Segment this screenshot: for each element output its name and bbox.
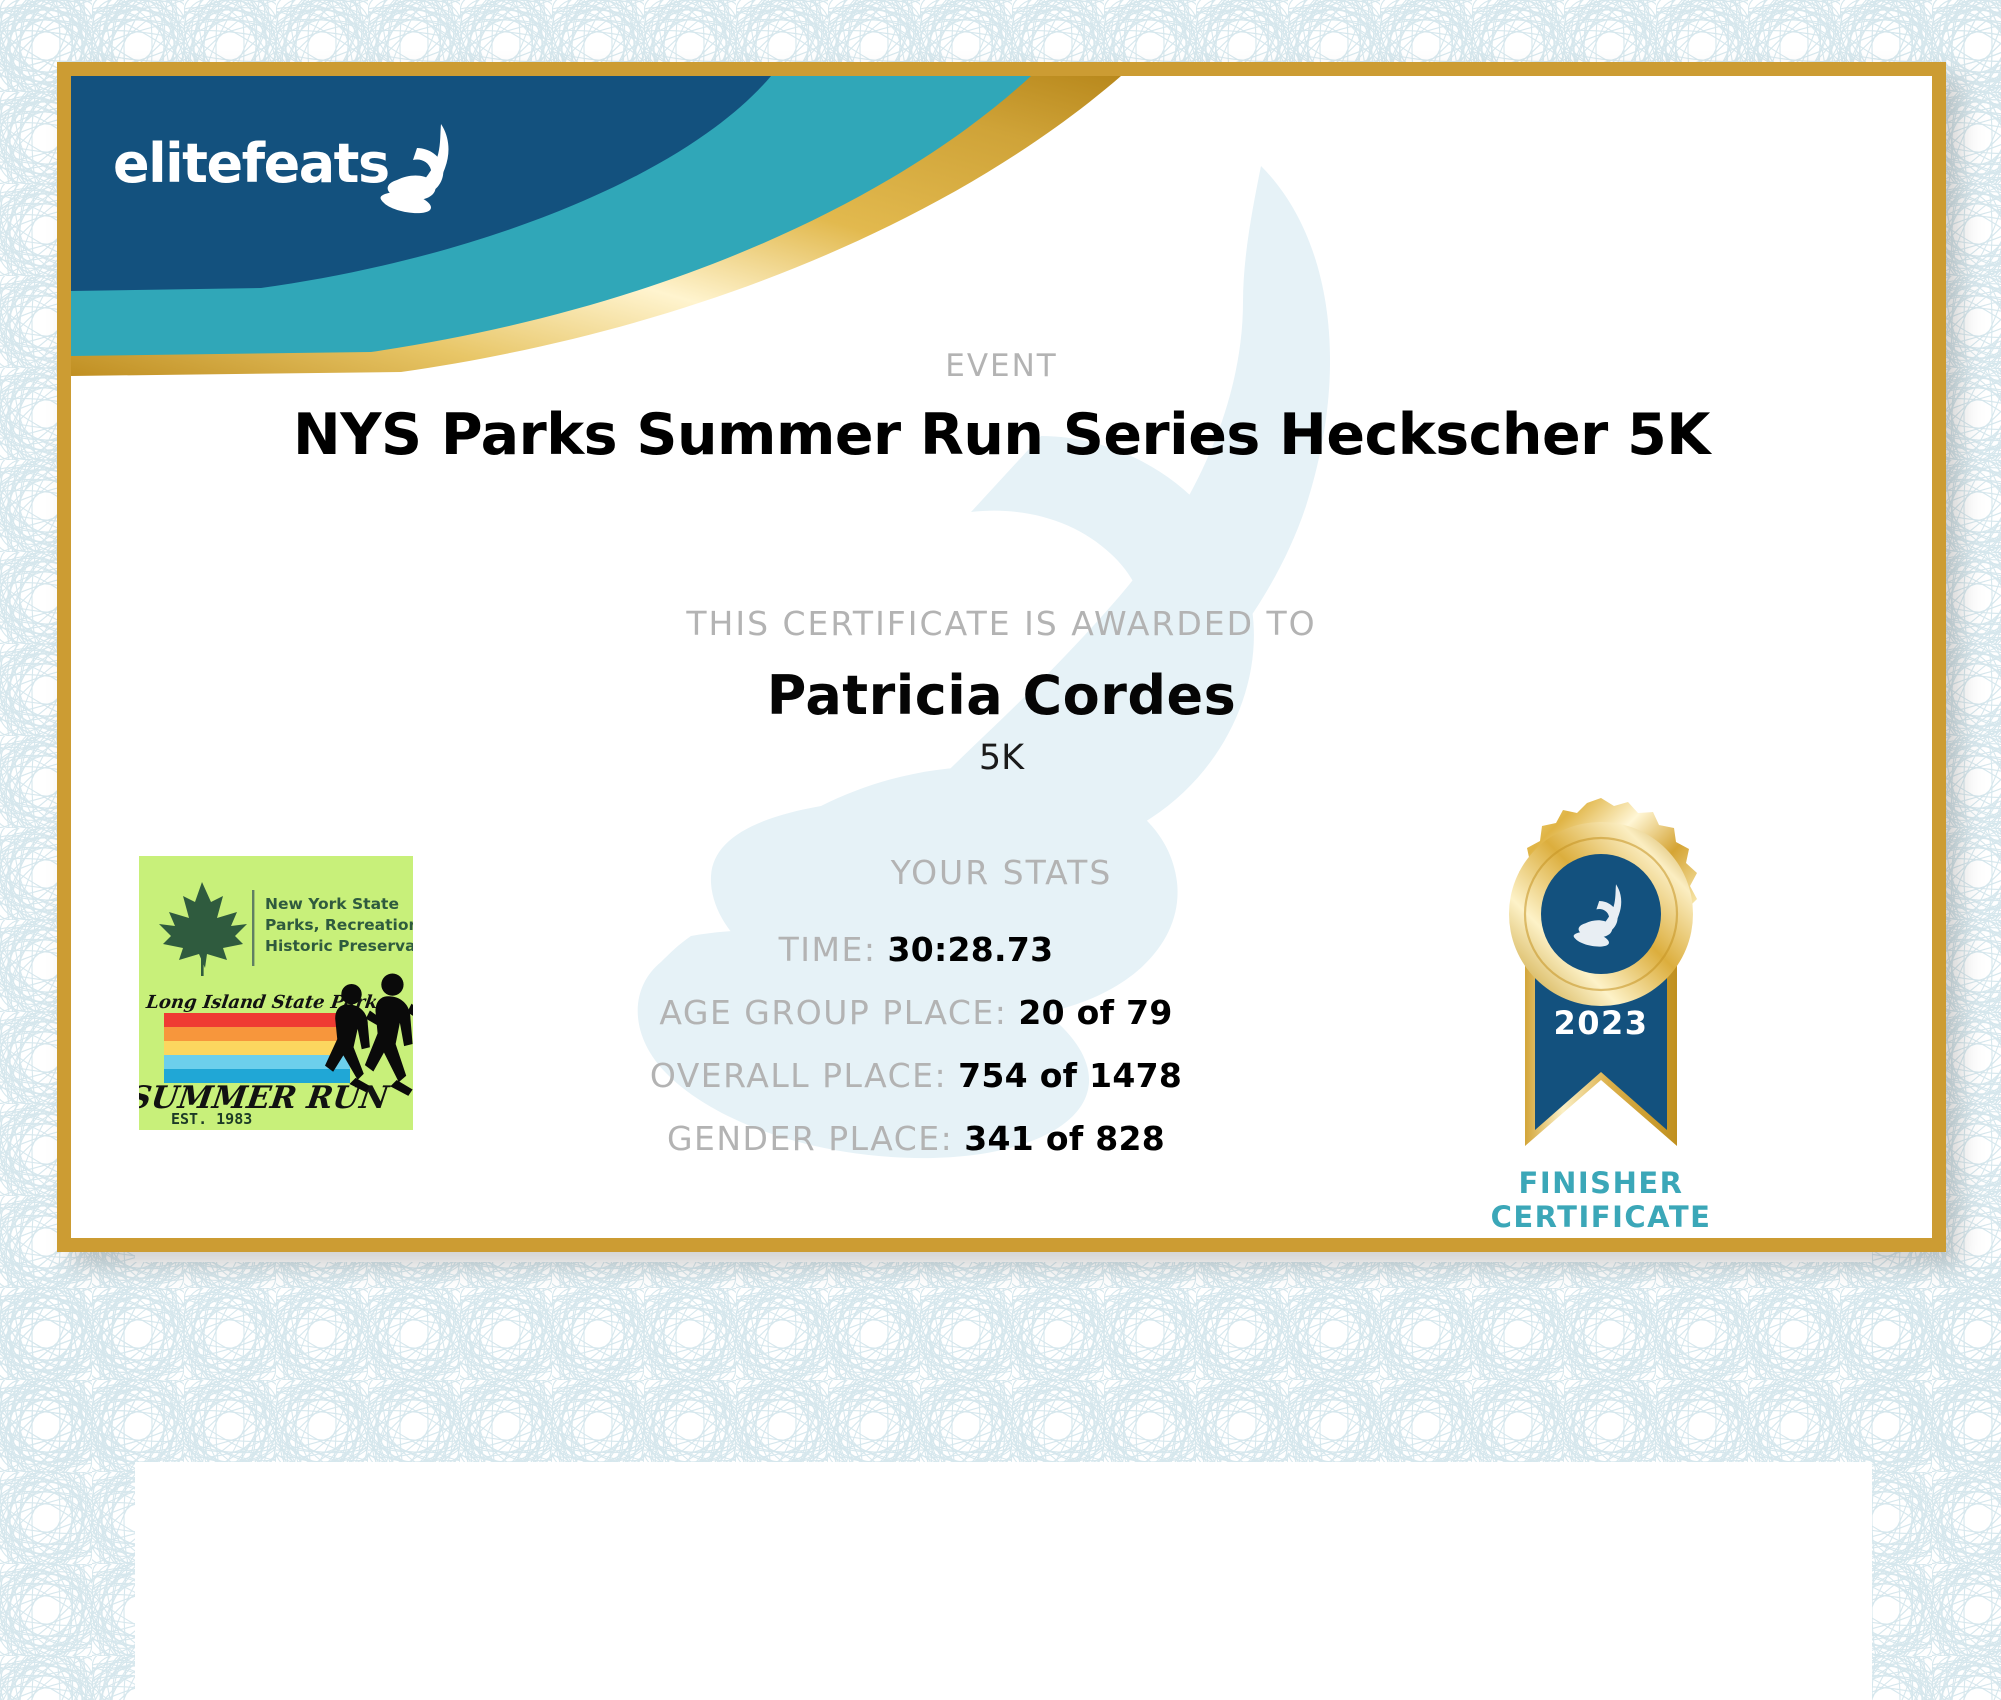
certificate-body: elitefeats EVENT NYS Parks Summer Run Se…	[71, 76, 1932, 1238]
stats-list: TIME: 30:28.73 AGE GROUP PLACE: 20 of 79…	[371, 930, 1461, 1182]
svg-text:EST. 1983: EST. 1983	[171, 1110, 252, 1128]
stat-row-overall-place: OVERALL PLACE: 754 of 1478	[371, 1056, 1461, 1095]
winged-foot-icon	[371, 118, 471, 218]
finisher-caption-line2: CERTIFICATE	[1431, 1200, 1771, 1234]
stat-key: GENDER PLACE:	[667, 1119, 953, 1158]
awarded-to-label: THIS CERTIFICATE IS AWARDED TO	[71, 604, 1932, 643]
sponsor-logo-nys-parks-summer-run: New York State Parks, Recreation and His…	[139, 856, 413, 1130]
finisher-certificate-caption: FINISHER CERTIFICATE	[1431, 1166, 1771, 1234]
elitefeats-logo: elitefeats	[113, 122, 463, 218]
certificate-frame: elitefeats EVENT NYS Parks Summer Run Se…	[57, 62, 1946, 1252]
stat-row-time: TIME: 30:28.73	[371, 930, 1461, 969]
stat-row-age-group-place: AGE GROUP PLACE: 20 of 79	[371, 993, 1461, 1032]
stat-value: 30:28.73	[887, 930, 1053, 969]
brand-wordmark: elitefeats	[113, 132, 389, 195]
badge-starburst	[1509, 798, 1697, 1006]
svg-text:New York State: New York State	[265, 895, 399, 913]
finisher-medal: 2023	[1451, 796, 1751, 1216]
medal-year: 2023	[1553, 1004, 1648, 1042]
stat-key: TIME:	[779, 930, 877, 969]
stat-value: 341 of 828	[964, 1119, 1165, 1158]
header-swoosh-banner	[71, 76, 1932, 376]
recipient-distance: 5K	[71, 738, 1932, 778]
event-title: NYS Parks Summer Run Series Heckscher 5K	[71, 402, 1932, 468]
svg-text:Parks, Recreation and: Parks, Recreation and	[265, 916, 413, 934]
stat-value: 754 of 1478	[958, 1056, 1182, 1095]
svg-text:Historic Preservation: Historic Preservation	[265, 937, 413, 955]
stat-key: OVERALL PLACE:	[650, 1056, 947, 1095]
stat-key: AGE GROUP PLACE:	[659, 993, 1007, 1032]
recipient-name: Patricia Cordes	[71, 664, 1932, 727]
event-label: EVENT	[71, 348, 1932, 384]
stat-row-gender-place: GENDER PLACE: 341 of 828	[371, 1119, 1461, 1158]
finisher-caption-line1: FINISHER	[1431, 1166, 1771, 1200]
stat-value: 20 of 79	[1018, 993, 1172, 1032]
